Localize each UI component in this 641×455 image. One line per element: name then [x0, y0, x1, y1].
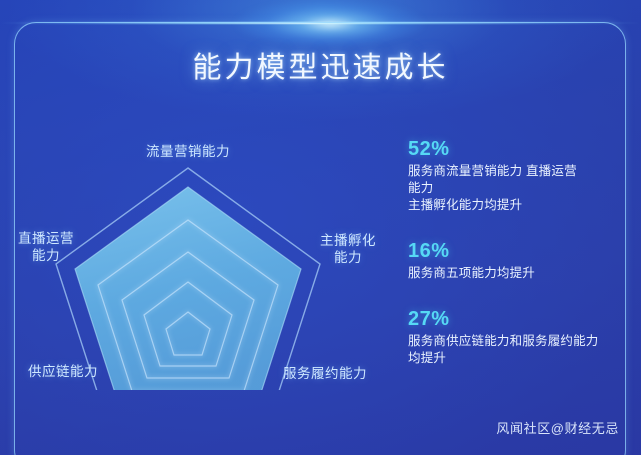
stat-item: 16% 服务商五项能力均提升: [408, 240, 633, 282]
stat-percent: 52%: [408, 138, 633, 161]
stat-description: 服务商五项能力均提升: [408, 265, 633, 282]
radar-chart-svg: [38, 160, 338, 390]
watermark: 风闻社区@财经无忌: [496, 418, 619, 437]
radar-chart: [38, 160, 338, 390]
stat-item: 52% 服务商流量营销能力 直播运营 能力 主播孵化能力均提升: [408, 138, 633, 214]
stat-description-line: 能力: [408, 180, 633, 197]
radar-axis-label-supply-chain: 供应链能力: [28, 363, 98, 380]
radar-axis-label-live-operations-line1: 直播运营: [18, 230, 74, 247]
stat-description: 服务商流量营销能力 直播运营 能力 主播孵化能力均提升: [408, 163, 633, 214]
radar-axis-label-service-fulfillment: 服务履约能力: [283, 365, 367, 382]
stat-percent: 27%: [408, 308, 633, 331]
stat-description-line: 均提升: [408, 350, 633, 367]
radar-axis-label-traffic-marketing: 流量营销能力: [146, 143, 230, 160]
stat-description-line: 服务商供应链能力和服务履约能力: [408, 333, 633, 350]
page-title: 能力模型迅速成长: [0, 44, 641, 86]
radar-axis-label-host-incubation-line2: 能力: [320, 249, 376, 266]
radar-axis-label-host-incubation-line1: 主播孵化: [320, 232, 376, 249]
stat-description-line: 主播孵化能力均提升: [408, 197, 633, 214]
radar-data-polygon: [75, 187, 301, 390]
slide-canvas: 能力模型迅速成长: [0, 0, 641, 455]
radar-axis-label-live-operations-line2: 能力: [18, 247, 74, 264]
stat-percent: 16%: [408, 240, 633, 263]
stats-panel: 52% 服务商流量营销能力 直播运营 能力 主播孵化能力均提升 16% 服务商五…: [408, 138, 633, 389]
stat-description-line: 服务商五项能力均提升: [408, 265, 633, 282]
stat-description: 服务商供应链能力和服务履约能力 均提升: [408, 333, 633, 367]
stat-item: 27% 服务商供应链能力和服务履约能力 均提升: [408, 308, 633, 367]
radar-axis-label-host-incubation: 主播孵化 能力: [320, 232, 376, 266]
radar-axis-label-live-operations: 直播运营 能力: [18, 230, 74, 264]
stat-description-line: 服务商流量营销能力 直播运营: [408, 163, 633, 180]
